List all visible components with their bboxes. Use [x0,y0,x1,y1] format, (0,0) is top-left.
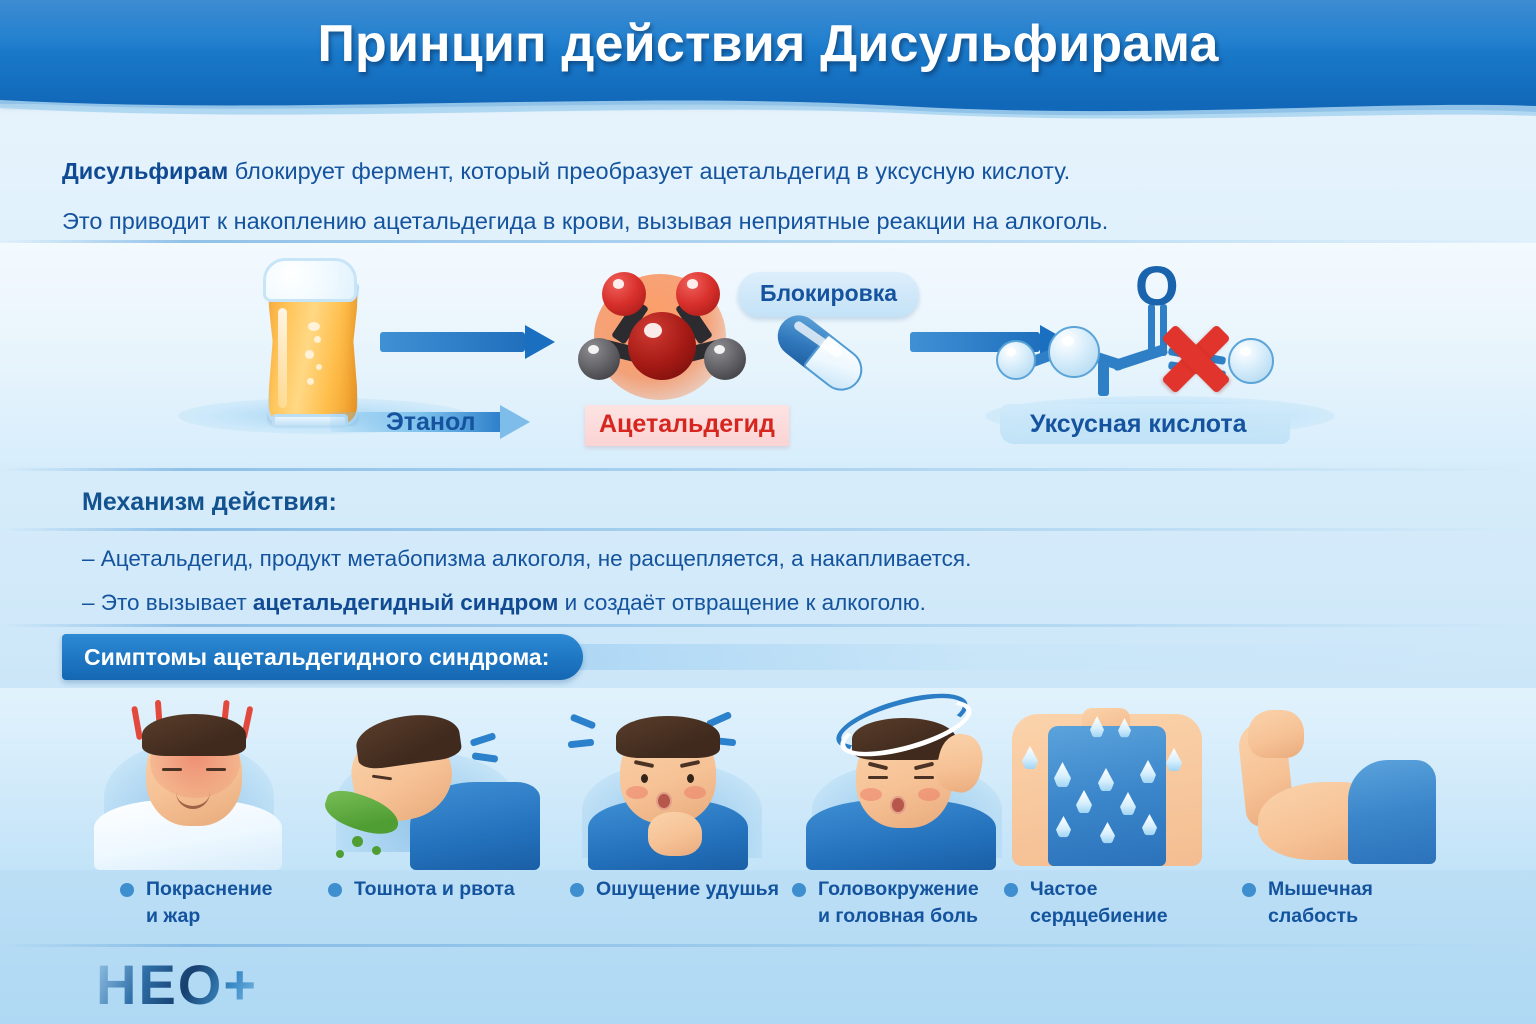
infographic-poster: Принцип действия Дисульфирама Дисульфира… [0,0,1536,1024]
fist [1248,710,1304,758]
caption-line-2: сердцебиение [1030,903,1210,930]
caption-line-1: Ошущение удушья [596,876,796,903]
bullet-dot [792,883,806,897]
caption-line-2: и жар [146,903,306,930]
sleeve [1348,760,1436,864]
beer-highlight [278,308,287,408]
eye-right [687,774,694,783]
intro-line-1-rest: блокирует фермент, который преобразует а… [228,158,1070,184]
mechanism-item-1-text: Ацетальдегид, продукт метабопизма алкого… [95,546,972,571]
atom-specular [714,345,725,354]
blush-left [860,788,882,801]
intro-drug-name: Дисульфирам [62,158,228,184]
label-acetaldehyde: Ацетальдегид [585,405,789,446]
intro-text: Дисульфирам блокирует фермент, который п… [62,146,1462,246]
mouth-open [656,792,672,810]
symptom-caption-6: Мышечная слабость [1268,876,1438,930]
bullet-dot [1004,883,1018,897]
label-acetic-acid: Уксусная кислота [1030,410,1247,439]
atom-specular [588,345,599,354]
atom-specular [1062,336,1074,347]
mechanism-item-2: – Это вызывает ацетальдегидный синдром и… [82,590,926,616]
eye-closed-right [206,768,226,771]
mouth-open [890,796,906,814]
blush-right [918,788,940,801]
eye-left [641,774,648,783]
divider-footer [0,944,1536,947]
symptom-caption-3: Ошущение удушья [596,876,796,903]
symptom-caption-1: Покраснение и жар [146,876,306,930]
arrow-ethanol-to-acetaldehyde [380,325,555,359]
eye-closed-right [914,776,934,779]
atom-oxygen-left [602,272,646,316]
blush-left [626,786,648,799]
page-title: Принцип действия Дисульфирама [0,14,1536,74]
mechanism-item-2-post: и создаёт отвращение к алкоголю. [558,590,926,615]
blush-right [684,786,706,799]
caption-line-2: слабость [1268,903,1438,930]
atom-specular [613,279,624,289]
beer-foam [263,258,357,302]
eye-closed-left [868,776,888,779]
atom-oxygen-right [676,272,720,316]
header-wave-decoration [0,100,1536,126]
hand-at-throat [648,812,702,856]
intro-line-2: Это приводит к накоплению ацетальдегида … [62,196,1462,246]
bubble [307,378,314,385]
divider-after-reaction [0,468,1536,471]
intro-line-1: Дисульфирам блокирует фермент, который п… [62,146,1462,196]
atom-center [628,312,696,380]
arrow-head [525,325,555,359]
bubble [305,350,314,359]
bond-acid-vertical-down [1098,362,1109,396]
blocked-x-icon [1150,312,1242,404]
arrow-shaft [380,332,525,352]
symptom-caption-5: Частое сердцебиение [1030,876,1210,930]
oxygen-letter: O [1135,258,1179,314]
caption-line-1: Покраснение [146,876,306,903]
caption-line-1: Мышечная [1268,876,1438,903]
eye-closed-left [162,768,182,771]
wave-svg [0,100,1536,126]
figure-hair [142,714,246,756]
atom-carbon-right [704,338,746,380]
bubble [314,336,321,343]
label-ethanol: Этанол [386,408,476,437]
bullet-dash: – [82,546,95,571]
bullet-dot [1242,883,1256,897]
mechanism-item-2-bold: ацетальдегидный синдром [253,590,558,615]
mechanism-item-1: – Ацетальдегид, продукт метабопизма алко… [82,546,971,572]
caption-line-1: Частое [1030,876,1210,903]
atom-specular [1007,348,1016,356]
atom-acid-1 [996,340,1036,380]
divider-before-symptoms [0,624,1536,627]
divider-mechanism [0,528,1536,531]
mechanism-title: Механизм действия: [82,488,337,517]
mechanism-item-2-pre: Это вызывает [95,590,253,615]
vomit-drop [352,836,363,847]
bubble [316,364,322,370]
vomit-drop [372,846,381,855]
bullet-dot [120,883,134,897]
tank-top [1048,726,1166,866]
vomit-drop [336,850,344,858]
bullet-dot [570,883,584,897]
atom-specular [644,323,662,338]
symptom-caption-4: Головокружение и головная боль [818,876,998,930]
arrow-head [500,405,530,439]
banner-tail [560,644,1490,670]
brand-logo: НЕО+ [96,952,258,1017]
caption-line-1: Головокружение [818,876,998,903]
atom-acid-2 [1048,326,1100,378]
bullet-dot [328,883,342,897]
caption-line-1: Тошнота и рвота [354,876,544,903]
symptom-caption-2: Тошнота и рвота [354,876,544,903]
atom-specular [687,279,698,289]
atom-carbon-left [578,338,620,380]
symptoms-banner: Симптомы ацетальдегидного синдрома: [62,634,583,680]
caption-line-2: и головная боль [818,903,998,930]
figure-hair [616,716,720,758]
bubble [308,322,320,331]
bullet-dash: – [82,590,95,615]
beer-glass-icon [262,256,358,428]
header-bar: Принцип действия Дисульфирама [0,0,1536,104]
block-badge: Блокировка [738,272,919,317]
